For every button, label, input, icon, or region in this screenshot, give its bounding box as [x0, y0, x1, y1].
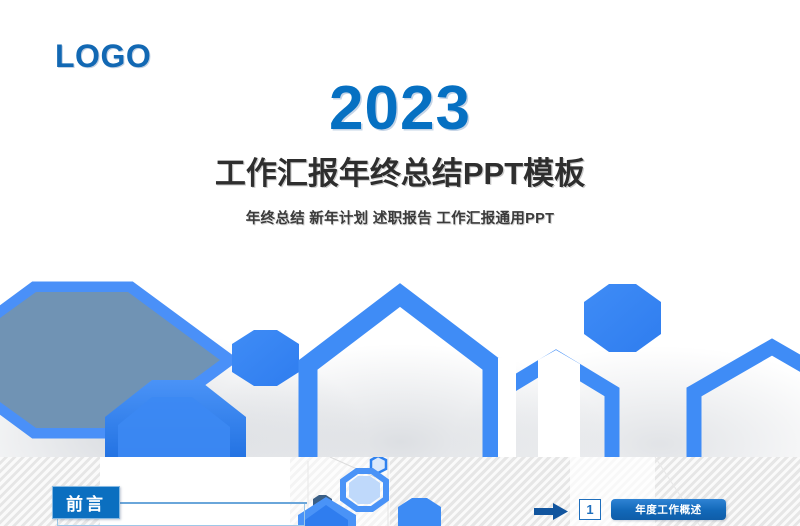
hexagon-outline-sliver [498, 350, 612, 457]
arrow-right-icon [534, 503, 568, 525]
section-nav-button[interactable]: 年度工作概述 [611, 499, 726, 520]
logo-text: LOGO [55, 38, 151, 75]
title-block: 2023 工作汇报年终总结PPT模板 年终总结 新年计划 述职报告 工作汇报通用… [0, 78, 800, 228]
year-heading: 2023 [0, 78, 800, 140]
section-nav-label: 年度工作概述 [635, 502, 702, 517]
foreword-label: 前言 [66, 490, 106, 515]
hexagon-blue-small-left [232, 330, 299, 386]
hexagon-blue-medium-right [584, 284, 661, 352]
page-title: 工作汇报年终总结PPT模板 [0, 148, 800, 193]
hexagon-decoration-band [0, 262, 800, 457]
section-number: 1 [586, 502, 593, 517]
hexagon-shapes-svg [0, 262, 800, 457]
page-subtitle: 年终总结 新年计划 述职报告 工作汇报通用PPT [0, 207, 800, 228]
hexagon-outline-right [694, 347, 800, 457]
presentation-slide: LOGO 2023 工作汇报年终总结PPT模板 年终总结 新年计划 述职报告 工… [0, 0, 800, 526]
foreword-badge[interactable]: 前言 [52, 486, 120, 519]
hexagon-blue-solid-cluster [398, 498, 441, 526]
section-number-badge: 1 [579, 499, 601, 520]
hexagon-ring-light [343, 471, 386, 509]
hexagon-outline-large-center [308, 295, 492, 457]
